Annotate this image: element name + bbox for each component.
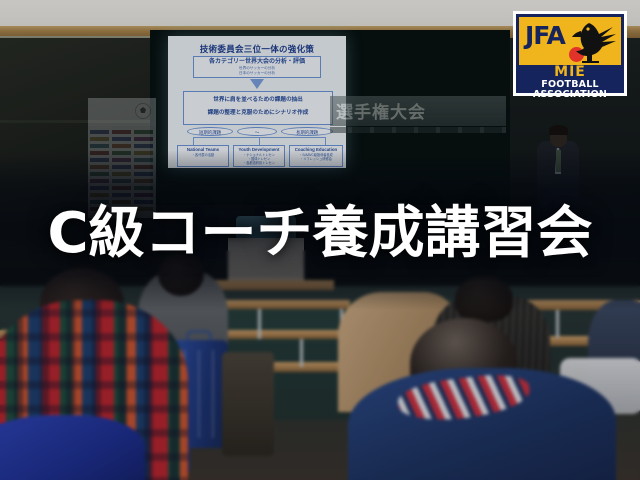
jfa-mie-football-association-logo: JFA MIE FOOTBALL ASSOCIATION — [513, 11, 627, 96]
event-banner-image: 技術委員会三位一体の強化策 各カテゴリー世界大会の分析・評価 世界のサッカーの分… — [0, 0, 640, 480]
eagle-icon — [555, 20, 617, 64]
logo-association-text: FOOTBALL ASSOCIATION — [519, 80, 621, 100]
logo-frame: JFA MIE FOOTBALL ASSOCIATION — [516, 14, 624, 93]
logo-mie-text: MIE — [519, 65, 621, 80]
page-title: C級コーチ養成講習会 — [0, 203, 640, 265]
